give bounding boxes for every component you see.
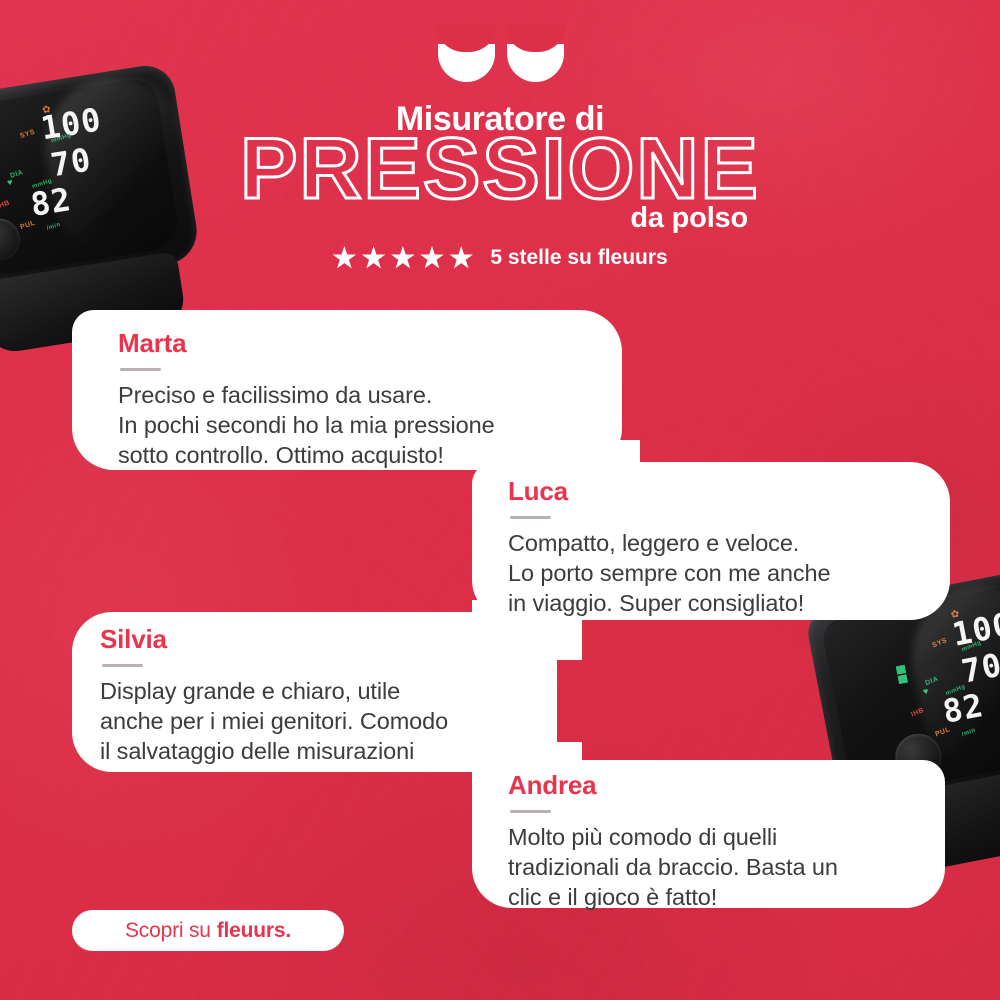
cta-button-scopri[interactable]: Scopri sufleuurs. — [72, 910, 344, 951]
review-text: Compatto, leggero e veloce. Lo porto sem… — [508, 528, 830, 618]
crescent-left-icon — [438, 44, 495, 82]
cta-brand: fleuurs. — [217, 919, 291, 943]
review-divider — [510, 516, 551, 519]
crescent-right-icon — [507, 44, 564, 82]
title-sub-line: da polso — [630, 202, 748, 235]
review-divider — [102, 664, 143, 667]
review-author-name: Luca — [508, 476, 568, 507]
promo-banner: ✿ SYS 100 mmHg ♥ DIA 70 mmHg IHB 82 PUL … — [0, 0, 1000, 1000]
two-crescents-logo-icon — [438, 44, 564, 84]
review-text: Preciso e facilissimo da usare. In pochi… — [118, 380, 495, 470]
review-card-andrea: Andrea Molto più comodo di quelli tradiz… — [472, 760, 945, 908]
review-text: Display grande e chiaro, utile anche per… — [100, 676, 448, 766]
review-card-silvia: Silvia Display grande e chiaro, utile an… — [72, 612, 557, 772]
star-rating-icon: ★★★★★ — [332, 243, 478, 274]
review-author-name: Andrea — [508, 770, 596, 801]
cta-prefix: Scopri su — [125, 919, 211, 943]
review-text: Molto più comodo di quelli tradizionali … — [508, 822, 838, 912]
review-divider — [510, 810, 551, 813]
review-author-name: Marta — [118, 328, 186, 359]
title-main-word: PRESSIONE — [0, 126, 1000, 212]
signal-bars-icon — [896, 665, 908, 684]
rating-label: 5 stelle su fleuurs — [490, 246, 667, 270]
pul-label: PUL — [19, 220, 36, 231]
review-author-name: Silvia — [100, 624, 167, 655]
review-divider — [120, 368, 161, 371]
pul-unit: /min — [46, 222, 61, 232]
review-card-luca: Luca Compatto, leggero e veloce. Lo port… — [472, 462, 950, 620]
review-card-marta: Marta Preciso e facilissimo da usare. In… — [72, 310, 622, 470]
rating-row: ★★★★★5 stelle su fleuurs — [0, 243, 1000, 274]
